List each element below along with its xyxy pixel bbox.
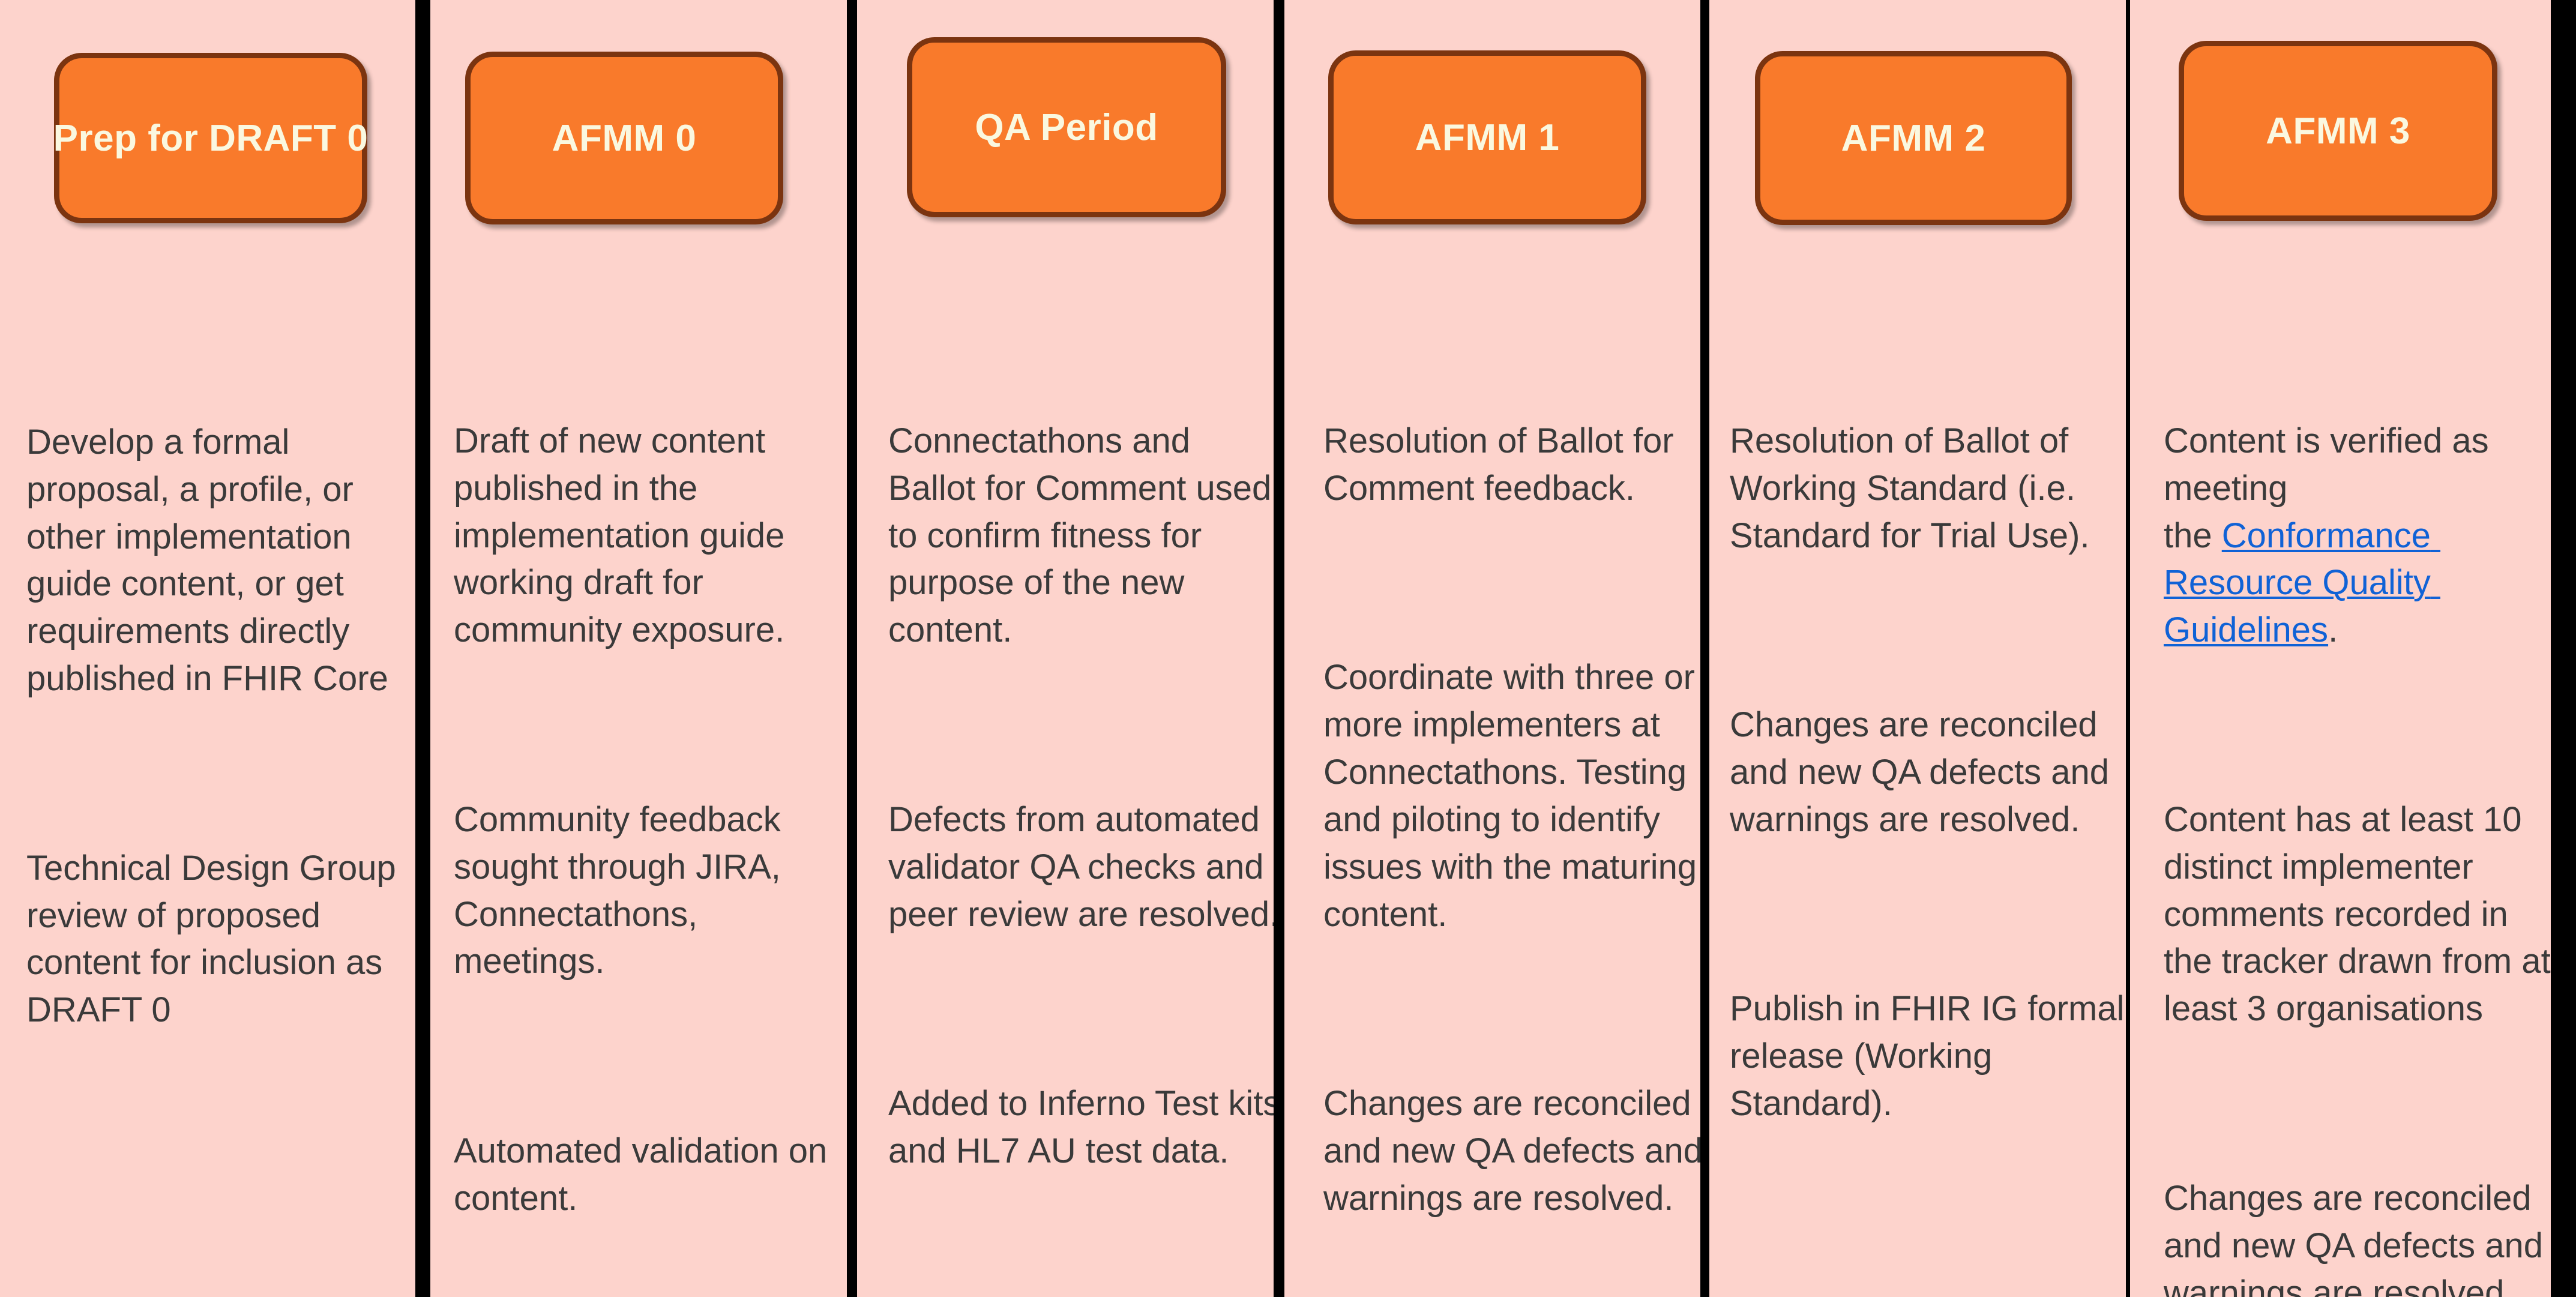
maturity-model-diagram: Prep for DRAFT 0 Develop a formal propos… [0,0,2576,1297]
stage-pill-prep-for-draft-0[interactable]: Prep for DRAFT 0 [54,53,367,223]
column-divider-3 [1274,0,1284,1297]
column-afmm-2: AFMM 2 Resolution of Ballot of Working S… [1709,0,2126,1297]
column-afmm-1: AFMM 1 Resolution of Ballot for Comment … [1284,0,1700,1297]
body-paragraph: Resolution of Ballot for Comment feedbac… [1323,418,1720,513]
body-paragraph: Defects from automated validator QA chec… [888,796,1284,939]
body-paragraph: Changes are reconciled and new QA defect… [2164,1175,2560,1297]
column-divider-5 [2126,0,2130,1297]
body-paragraph: Resolution of Ballot of Working Standard… [1730,418,2128,560]
stage-pill-label: AFMM 3 [2266,110,2410,152]
column-prep-for-draft-0: Prep for DRAFT 0 Develop a formal propos… [0,0,415,1297]
column-divider-4 [1700,0,1709,1297]
body-paragraph: Publish in FHIR IG formal release (Worki… [1730,986,2128,1128]
body-paragraph: Added to Inferno Test kits and HL7 AU te… [888,1080,1284,1175]
body-paragraph: Technical Design Group review of propose… [26,845,411,1035]
column-divider-1 [415,0,430,1297]
stage-pill-afmm-2[interactable]: AFMM 2 [1755,51,2072,225]
body-paragraph: Community feedback sought through JIRA, … [454,796,838,986]
stage-pill-label: AFMM 2 [1841,117,1986,160]
stage-body-afmm-2: Resolution of Ballot of Working Standard… [1730,323,2128,1223]
body-paragraph: Develop a formal proposal, a profile, or… [26,419,411,703]
stage-pill-afmm-1[interactable]: AFMM 1 [1328,50,1646,224]
column-divider-2 [847,0,857,1297]
body-paragraph: Coordinate with three or more implemente… [1323,654,1720,938]
body-paragraph: Changes are reconciled and new QA defect… [1730,702,2128,844]
body-paragraph: Draft of new content published in the im… [454,418,838,654]
stage-pill-afmm-0[interactable]: AFMM 0 [465,52,783,224]
stage-pill-afmm-3[interactable]: AFMM 3 [2179,41,2497,221]
body-paragraph: Content has at least 10 distinct impleme… [2164,796,2560,1033]
stage-pill-label: AFMM 1 [1415,116,1560,159]
body-paragraph: Automated validation on content. [454,1128,838,1223]
body-paragraph-with-link: Content is verified as meeting the Confo… [2164,418,2560,654]
stage-body-afmm-3: Content is verified as meeting the Confo… [2164,323,2560,1297]
column-afmm-3: AFMM 3 Content is verified as meeting th… [2130,0,2551,1297]
column-afmm-0: AFMM 0 Draft of new content published in… [430,0,847,1297]
stage-pill-qa-period[interactable]: QA Period [907,37,1226,217]
stage-pill-label: QA Period [975,106,1158,149]
stage-pill-label: Prep for DRAFT 0 [53,117,369,160]
link-suffix-text: . [2328,610,2338,649]
stage-pill-label: AFMM 0 [552,117,697,160]
body-paragraph: Changes are reconciled and new QA defect… [1323,1080,1720,1223]
stage-body-afmm-1: Resolution of Ballot for Comment feedbac… [1323,323,1720,1297]
stage-body-afmm-0: Draft of new content published in the im… [454,323,838,1297]
right-edge-border [2551,0,2576,1297]
stage-body-prep-for-draft-0: Develop a formal proposal, a profile, or… [26,324,411,1129]
body-paragraph: Connectathons and Ballot for Comment use… [888,418,1284,654]
column-qa-period: QA Period Connectathons and Ballot for C… [857,0,1274,1297]
stage-body-qa-period: Connectathons and Ballot for Comment use… [888,323,1284,1270]
